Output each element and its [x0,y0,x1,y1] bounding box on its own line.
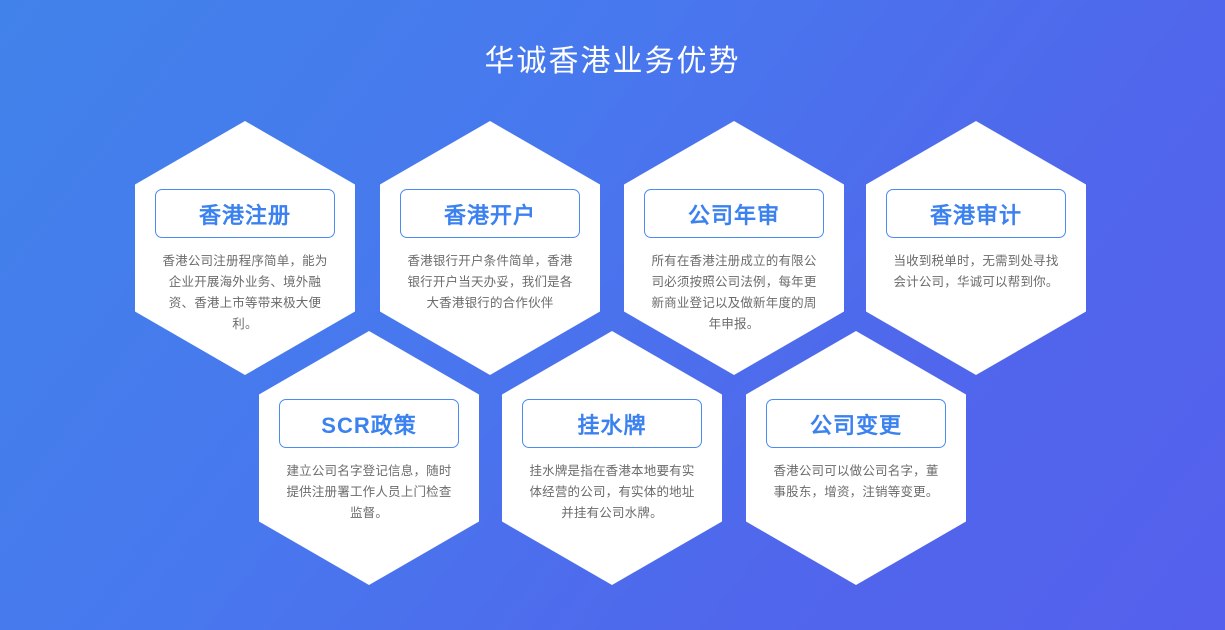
slide-canvas: 华诚香港业务优势 香港注册 香港公司注册程序简单，能为企业开展海外业务、境外融资… [0,0,1225,630]
hex-card-description: 香港银行开户条件简单，香港银行开户当天办妥，我们是各大香港银行的合作伙伴 [402,251,578,314]
hex-card-title: 香港审计 [886,189,1066,238]
hex-card-content: 公司年审 所有在香港注册成立的有限公司必须按照公司法例，每年更新商业登记以及做新… [624,121,844,375]
hex-card-content: 香港注册 香港公司注册程序简单，能为企业开展海外业务、境外融资、香港上市等带来极… [135,121,355,375]
hex-card-title: 公司年审 [644,189,824,238]
hex-card-annual-review[interactable]: 公司年审 所有在香港注册成立的有限公司必须按照公司法例，每年更新商业登记以及做新… [624,121,844,375]
hex-card-description: 建立公司名字登记信息，随时提供注册署工作人员上门检查监督。 [281,461,457,524]
hex-card-content: 香港开户 香港银行开户条件简单，香港银行开户当天办妥，我们是各大香港银行的合作伙… [380,121,600,375]
hex-card-hong-kong-audit[interactable]: 香港审计 当收到税单时，无需到处寻找会计公司，华诚可以帮到你。 [866,121,1086,375]
page-title: 华诚香港业务优势 [0,40,1225,84]
hex-card-company-change[interactable]: 公司变更 香港公司可以做公司名字，董事股东，增资，注销等变更。 [746,331,966,585]
hex-card-scr-policy[interactable]: SCR政策 建立公司名字登记信息，随时提供注册署工作人员上门检查监督。 [259,331,479,585]
hex-card-description: 所有在香港注册成立的有限公司必须按照公司法例，每年更新商业登记以及做新年度的周年… [646,251,822,335]
hex-card-description: 当收到税单时，无需到处寻找会计公司，华诚可以帮到你。 [888,251,1064,293]
hex-card-title: 香港开户 [400,189,580,238]
hex-card-water-plaque[interactable]: 挂水牌 挂水牌是指在香港本地要有实体经营的公司，有实体的地址并挂有公司水牌。 [502,331,722,585]
hex-card-title: 公司变更 [766,399,946,448]
hex-card-description: 香港公司注册程序简单，能为企业开展海外业务、境外融资、香港上市等带来极大便利。 [157,251,333,335]
hex-card-content: 公司变更 香港公司可以做公司名字，董事股东，增资，注销等变更。 [746,331,966,585]
hex-card-title: 香港注册 [155,189,335,238]
hex-card-title: SCR政策 [279,399,459,448]
hex-card-description: 挂水牌是指在香港本地要有实体经营的公司，有实体的地址并挂有公司水牌。 [524,461,700,524]
hex-card-hong-kong-bank-account[interactable]: 香港开户 香港银行开户条件简单，香港银行开户当天办妥，我们是各大香港银行的合作伙… [380,121,600,375]
hex-card-content: 香港审计 当收到税单时，无需到处寻找会计公司，华诚可以帮到你。 [866,121,1086,375]
hex-card-title: 挂水牌 [522,399,702,448]
hex-card-hong-kong-registration[interactable]: 香港注册 香港公司注册程序简单，能为企业开展海外业务、境外融资、香港上市等带来极… [135,121,355,375]
hex-card-description: 香港公司可以做公司名字，董事股东，增资，注销等变更。 [768,461,944,503]
hex-card-content: SCR政策 建立公司名字登记信息，随时提供注册署工作人员上门检查监督。 [259,331,479,585]
hex-card-content: 挂水牌 挂水牌是指在香港本地要有实体经营的公司，有实体的地址并挂有公司水牌。 [502,331,722,585]
